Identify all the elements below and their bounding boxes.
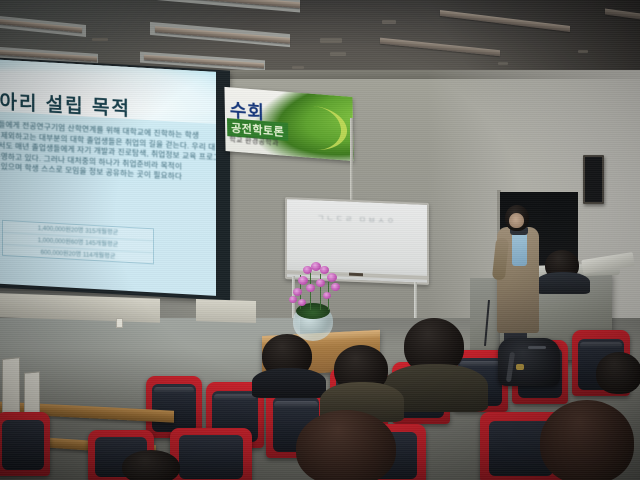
orchid-bloom xyxy=(293,288,302,296)
seat-highlight xyxy=(580,342,622,349)
seat-highlight xyxy=(460,361,500,367)
seat-cushion xyxy=(2,420,44,470)
audience-head xyxy=(296,410,396,480)
projection-screen: 붙아리 설립 목적 학생들에게 전공연구기엄 산학연계를 위해 대학교에 진학하… xyxy=(0,59,216,295)
baseboard xyxy=(196,299,256,323)
presenter-face xyxy=(509,213,524,228)
whiteboard-marker xyxy=(349,273,363,277)
orchid-bloom xyxy=(289,296,297,303)
orchid-bloom xyxy=(320,266,329,274)
ceiling-shadow-tint xyxy=(400,0,640,76)
ceiling-vent xyxy=(498,62,508,65)
orchid-bloom xyxy=(316,279,325,287)
ceiling-vent xyxy=(320,38,342,43)
audience-head xyxy=(122,450,180,480)
presenter-shirt xyxy=(512,232,527,266)
whiteboard-writing: ㄱㄴㄷㄹ ㅁㅂㅅㅇ xyxy=(317,212,409,228)
orchid-bloom xyxy=(306,284,315,292)
seat-highlight xyxy=(154,387,194,393)
orchid-bloom xyxy=(323,292,331,299)
auditorium-seat[interactable] xyxy=(0,412,50,476)
projection-screen-frame: 붙아리 설립 목적 학생들에게 전공연구기엄 산학연계를 위해 대학교에 진학하… xyxy=(0,57,230,300)
lecture-hall-photo: 붙아리 설립 목적 학생들에게 전공연구기엄 산학연계를 위해 대학교에 진학하… xyxy=(0,0,640,480)
backpack-zipper xyxy=(528,346,546,349)
wall-banner: 수회 공전학토론 학교 환경공학과 xyxy=(224,87,353,161)
wall-speaker xyxy=(583,155,604,204)
ceiling-vent xyxy=(330,52,346,56)
orchid-bloom xyxy=(327,273,337,282)
audience-head xyxy=(596,352,640,394)
seat-highlight xyxy=(274,401,317,408)
ceiling-vent xyxy=(578,50,588,53)
orchid-bloom xyxy=(298,299,306,306)
audience-head xyxy=(540,400,634,480)
slide-table: 1,400,000원20명 315개월평균 1,000,000원60명 145개… xyxy=(2,220,154,264)
ceiling-vent xyxy=(92,38,108,41)
seat-highlight xyxy=(214,394,256,401)
orchid-bloom xyxy=(298,276,308,285)
backpack-strap xyxy=(506,352,515,382)
slide-body: 학생들에게 전공연구기엄 산학연계를 위해 대학교에 진학하는 학생 들을 제외… xyxy=(0,119,209,185)
seated-assistant-shoulders xyxy=(536,272,590,294)
backpack-buckle xyxy=(516,364,524,370)
orchid-bloom xyxy=(331,283,340,291)
auditorium-seat[interactable] xyxy=(170,428,252,480)
audience-shoulders xyxy=(252,368,326,398)
ceiling-speaker xyxy=(382,20,396,24)
power-outlet[interactable] xyxy=(116,318,123,328)
seat-cushion xyxy=(179,435,243,479)
ceiling-vent xyxy=(292,66,304,69)
backpack[interactable] xyxy=(498,338,560,386)
